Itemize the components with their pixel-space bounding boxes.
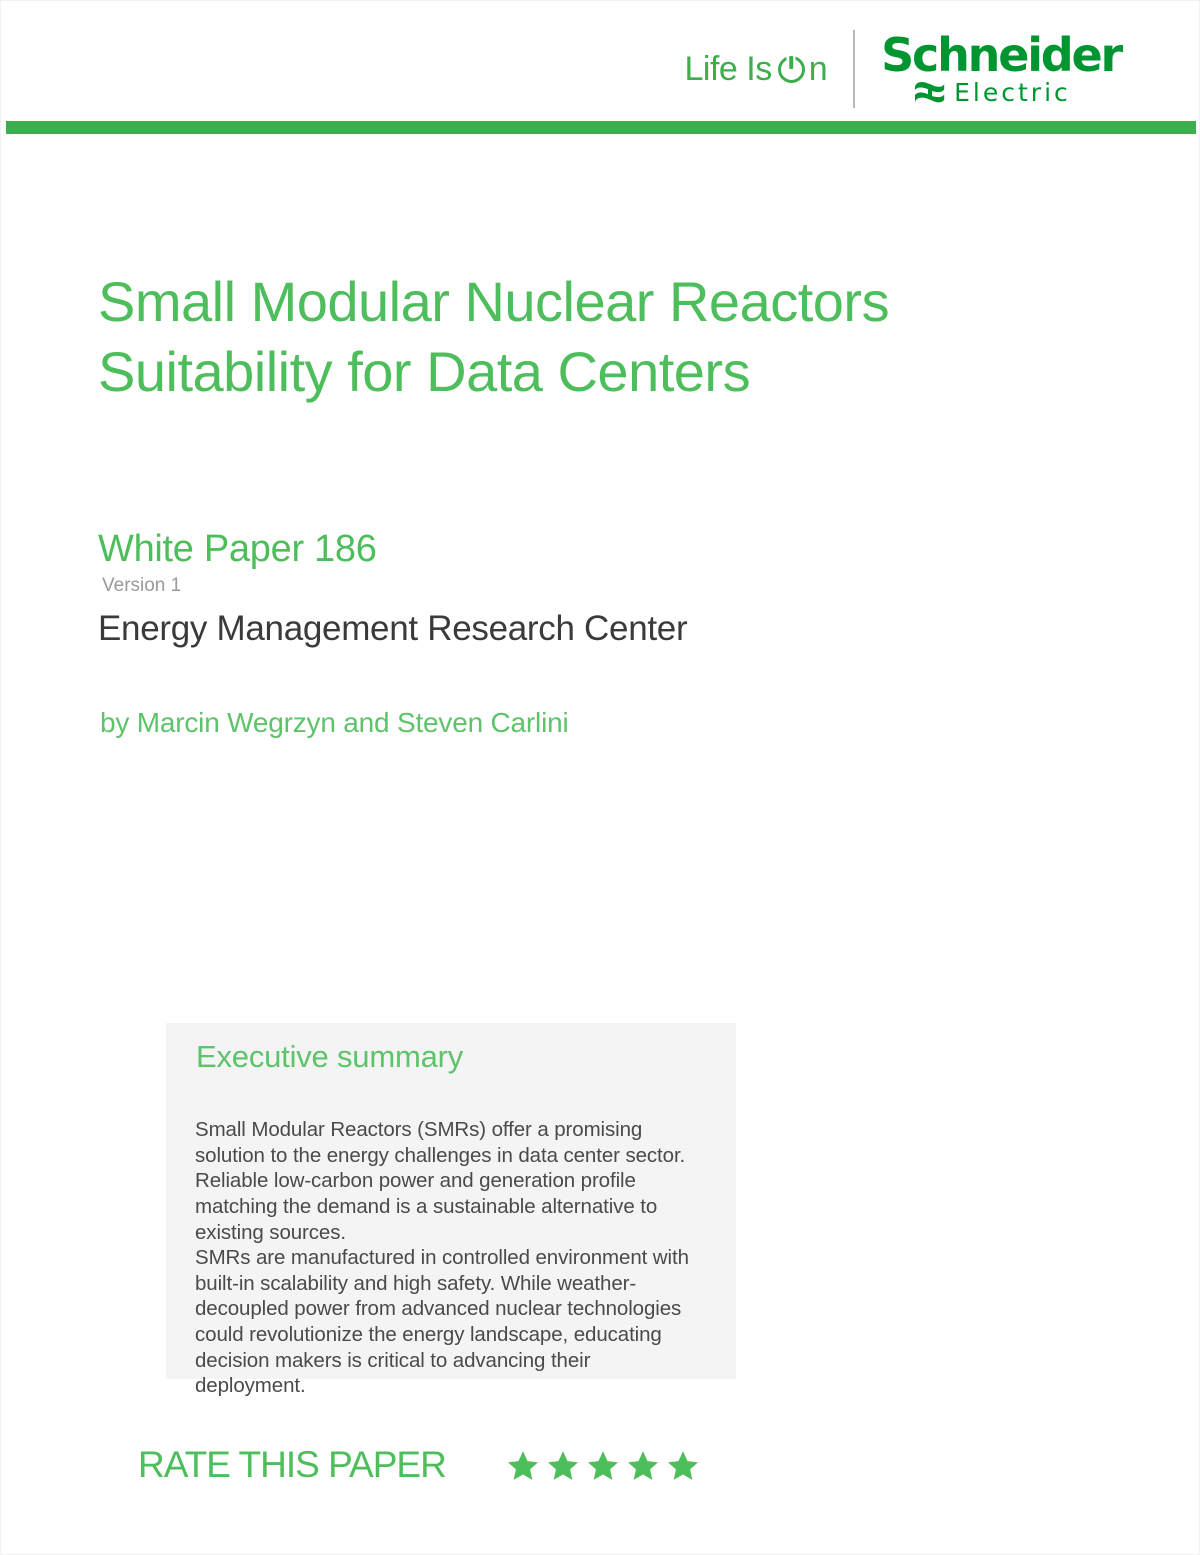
star-icon[interactable] xyxy=(546,1449,580,1483)
white-paper-cover-page: Life Is n Schneider Electric xyxy=(0,0,1200,1555)
white-paper-number: White Paper 186 xyxy=(98,530,377,568)
rate-this-paper-label: RATE THIS PAPER xyxy=(138,1446,446,1483)
executive-summary-body: Small Modular Reactors (SMRs) offer a pr… xyxy=(195,1117,705,1399)
star-icon[interactable] xyxy=(666,1449,700,1483)
rate-this-paper[interactable]: RATE THIS PAPER xyxy=(138,1446,700,1483)
brand-header: Life Is n Schneider Electric xyxy=(684,29,1121,109)
tagline-text-part1: Life Is xyxy=(684,52,771,86)
schneider-wordmark: Schneider xyxy=(881,33,1121,78)
star-rating[interactable] xyxy=(506,1449,700,1483)
page-title: Small Modular Nuclear Reactors Suitabili… xyxy=(98,267,1098,408)
star-icon[interactable] xyxy=(626,1449,660,1483)
white-paper-version: Version 1 xyxy=(102,576,181,595)
authors-line: by Marcin Wegrzyn and Steven Carlini xyxy=(100,709,569,737)
power-icon xyxy=(778,56,805,83)
tagline-text-part2: n xyxy=(809,52,827,86)
header-green-rule xyxy=(6,121,1196,134)
life-is-on-tagline: Life Is n xyxy=(684,52,853,86)
schneider-electric-logo: Schneider Electric xyxy=(881,33,1121,104)
executive-summary-heading: Executive summary xyxy=(196,1038,463,1075)
star-icon[interactable] xyxy=(506,1449,540,1483)
electric-wordmark: Electric xyxy=(954,80,1071,105)
schneider-se-mark-icon xyxy=(913,80,947,105)
star-icon[interactable] xyxy=(586,1449,620,1483)
research-center-name: Energy Management Research Center xyxy=(98,611,687,646)
executive-summary-box: Executive summary Small Modular Reactors… xyxy=(166,1023,736,1379)
logo-divider xyxy=(853,30,855,108)
